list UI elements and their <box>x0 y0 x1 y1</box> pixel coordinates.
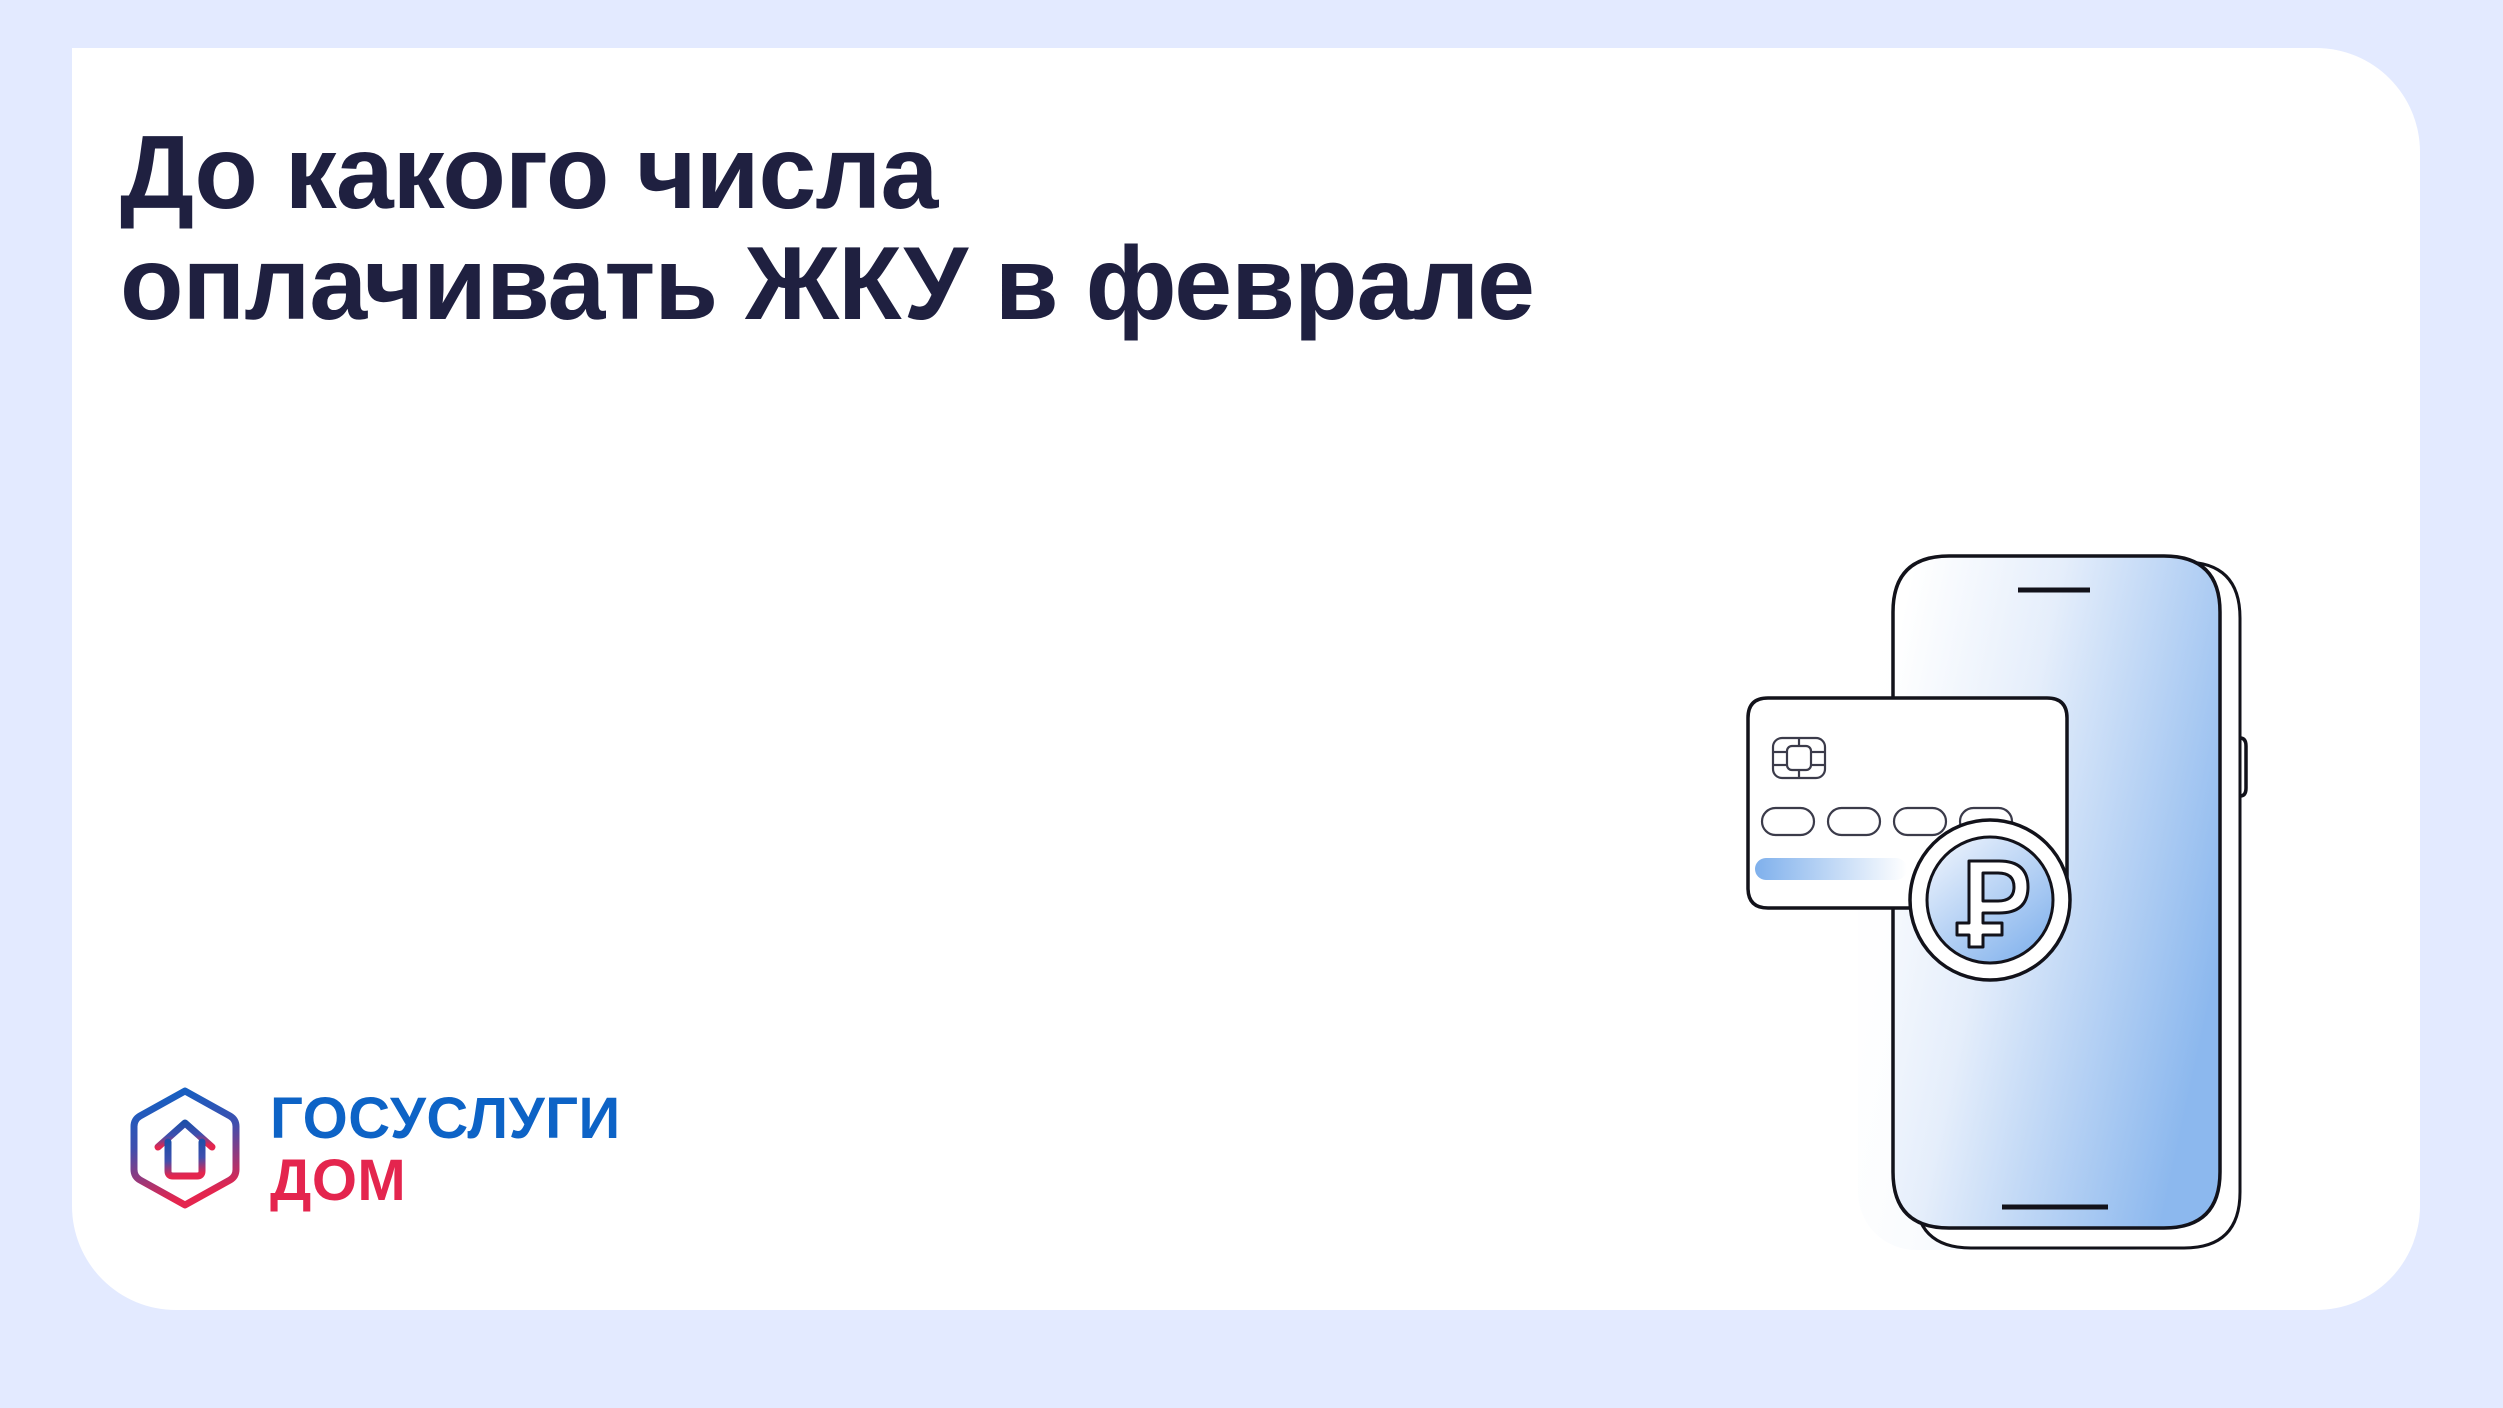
page-title-line-1: До какого числа <box>120 118 1534 229</box>
brand-word-bottom: ДОМ <box>270 1153 621 1209</box>
brand-word-top: ГОСУСЛУГИ <box>270 1091 621 1147</box>
page-title-line-2: оплачивать ЖКУ в феврале <box>120 229 1534 340</box>
brand-logo[interactable]: ГОСУСЛУГИ ДОМ <box>122 1085 621 1211</box>
phone-card-coin-illustration <box>1740 520 2300 1310</box>
ruble-coin-icon <box>1910 820 2070 980</box>
banner-root: До какого числа оплачивать ЖКУ в феврале <box>0 0 2503 1408</box>
brand-wordmark: ГОСУСЛУГИ ДОМ <box>270 1087 621 1208</box>
hexagon-house-icon <box>122 1085 248 1211</box>
page-title: До какого числа оплачивать ЖКУ в феврале <box>120 118 1534 341</box>
